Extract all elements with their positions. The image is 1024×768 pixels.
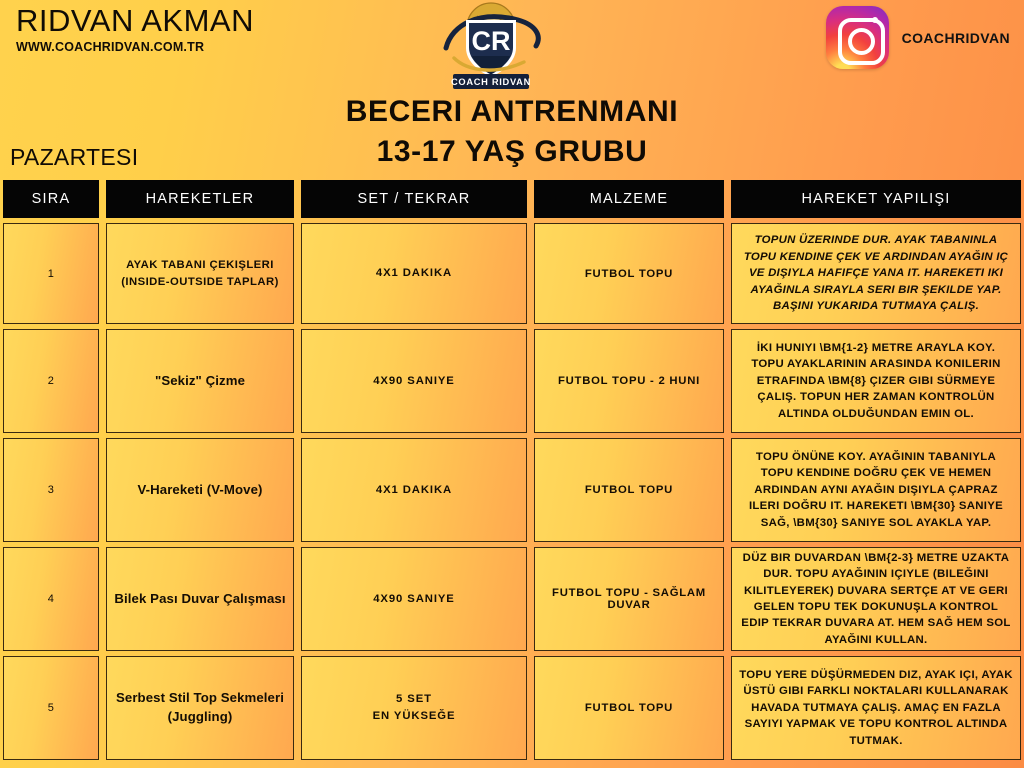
cell-set-reps: 4X90 SANIYE	[301, 547, 527, 651]
instagram-icon[interactable]	[826, 6, 889, 69]
cell-order: 4	[3, 547, 99, 651]
cell-order: 2	[3, 329, 99, 433]
column-header-malzeme: MALZEME	[534, 180, 724, 218]
cell-set-reps: 4X1 DAKIKA	[301, 438, 527, 542]
cell-set-reps: 4X1 DAKIKA	[301, 223, 527, 324]
cell-description: TOPUN ÜZERINDE DUR. AYAK TABANINLA TOPU …	[731, 223, 1021, 324]
table-row: 4 Bilek Pası Duvar Çalışması 4X90 SANIYE…	[3, 547, 1021, 651]
cell-movement: Serbest Stil Top Sekmeleri (Juggling)	[106, 656, 294, 760]
cell-description: TOPU ÖNÜNE KOY. AYAĞININ TABANIYLA TOPU …	[731, 438, 1021, 542]
instagram-lens-dot	[872, 17, 878, 23]
column-header-hareket-yapilisi: HAREKET YAPILIŞI	[731, 180, 1021, 218]
cell-material: FUTBOL TOPU	[534, 223, 724, 324]
table-row: 2 "Sekiz" Çizme 4X90 SANIYE FUTBOL TOPU …	[3, 329, 1021, 433]
title-line-2: 13-17 YAŞ GRUBU	[0, 132, 1024, 172]
cell-description: İKI HUNIYI \BM{1-2} METRE ARAYLA KOY. TO…	[731, 329, 1021, 433]
table-header-row: SIRA HAREKETLER SET / TEKRAR MALZEME HAR…	[3, 180, 1021, 218]
cell-description: TOPU YERE DÜŞÜRMEDEN DIZ, AYAK IÇI, AYAK…	[731, 656, 1021, 760]
cell-movement: Bilek Pası Duvar Çalışması	[106, 547, 294, 651]
logo-initials: CR	[472, 26, 511, 56]
cell-material: FUTBOL TOPU - SAĞLAM DUVAR	[534, 547, 724, 651]
page-title: BECERI ANTRENMANI 13-17 YAŞ GRUBU	[0, 92, 1024, 172]
table-row: 3 V-Hareketi (V-Move) 4X1 DAKIKA FUTBOL …	[3, 438, 1021, 542]
cr-shield-logo-svg: CR COACH RIDVAN	[432, 0, 550, 90]
cell-material: FUTBOL TOPU	[534, 438, 724, 542]
cell-description: DÜZ BIR DUVARDAN \BM{2-3} METRE UZAKTA D…	[731, 547, 1021, 651]
table-row: 5 Serbest Stil Top Sekmeleri (Juggling) …	[3, 656, 1021, 760]
cell-order: 1	[3, 223, 99, 324]
cell-movement: AYAK TABANI ÇEKIŞLERI (INSIDE-OUTSIDE TA…	[106, 223, 294, 324]
instagram-handle: COACHRIDVAN	[902, 30, 1010, 46]
logo-banner-text: COACH RIDVAN	[451, 77, 531, 87]
table-row: 1 AYAK TABANI ÇEKIŞLERI (INSIDE-OUTSIDE …	[3, 223, 1021, 324]
page-header: RIDVAN AKMAN WWW.COACHRIDVAN.COM.TR CR C…	[0, 0, 1024, 92]
cr-shield-logo: CR COACH RIDVAN	[432, 0, 550, 90]
cell-movement: V-Hareketi (V-Move)	[106, 438, 294, 542]
cell-order: 3	[3, 438, 99, 542]
column-header-hareketler: HAREKETLER	[106, 180, 294, 218]
cell-material: FUTBOL TOPU	[534, 656, 724, 760]
column-header-sira: SIRA	[3, 180, 99, 218]
weekday-label: PAZARTESI	[10, 144, 138, 171]
cell-set-reps: 4X90 SANIYE	[301, 329, 527, 433]
brand-block: RIDVAN AKMAN WWW.COACHRIDVAN.COM.TR	[16, 4, 254, 54]
training-table: SIRA HAREKETLER SET / TEKRAR MALZEME HAR…	[3, 180, 1021, 765]
cell-set-reps: 5 SET EN YÜKSEĞE	[301, 656, 527, 760]
brand-name: RIDVAN AKMAN	[16, 4, 254, 39]
cell-material: FUTBOL TOPU - 2 HUNI	[534, 329, 724, 433]
brand-website: WWW.COACHRIDVAN.COM.TR	[16, 40, 254, 54]
title-line-1: BECERI ANTRENMANI	[0, 92, 1024, 132]
column-header-set-tekrar: SET / TEKRAR	[301, 180, 527, 218]
instagram-block[interactable]: COACHRIDVAN	[826, 6, 1010, 69]
cell-order: 5	[3, 656, 99, 760]
cell-movement: "Sekiz" Çizme	[106, 329, 294, 433]
